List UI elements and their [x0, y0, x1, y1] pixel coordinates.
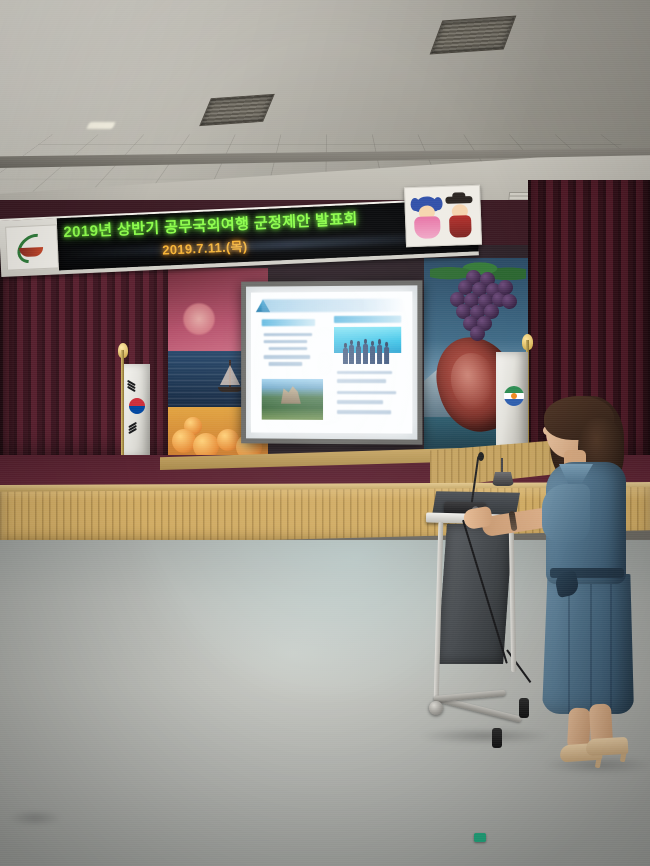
county-logo — [5, 224, 59, 270]
flag-cloth — [124, 364, 150, 456]
hanbok-boy-mascot — [445, 195, 474, 238]
logo-mark — [13, 234, 50, 262]
mascot-plate — [404, 185, 482, 248]
podium-lamp — [492, 472, 514, 486]
mural-grapes — [436, 270, 520, 336]
podium-leg — [509, 522, 517, 672]
presenter-shoe — [586, 737, 629, 756]
presenter-dress-skirt — [542, 574, 634, 714]
projection-screen — [241, 280, 422, 444]
gooseneck-microphone-head — [478, 452, 484, 461]
podium-lamp-stem — [501, 458, 503, 474]
county-emblem — [504, 386, 524, 406]
presentation-slide — [251, 292, 412, 434]
presentation-hall-photo: 2019년 상반기 공무국외여행 군정제안 발표회 2019.7.11.(목) — [0, 0, 650, 866]
presenter-sleeve — [542, 484, 590, 542]
mural-sun — [182, 302, 216, 336]
projection-screen-surface — [246, 285, 417, 439]
taeguk-symbol — [129, 398, 145, 414]
podium-foot — [492, 728, 502, 748]
podium-base-arm — [434, 690, 506, 702]
slide-section-header — [334, 316, 400, 323]
slide-photo-landscape — [262, 379, 323, 420]
hanbok-girl-mascot — [412, 196, 441, 239]
air-vent-grille — [430, 16, 517, 55]
podium-caster-wheel — [429, 701, 443, 715]
mural-sailboat — [216, 360, 244, 394]
slide-title-bar — [262, 299, 404, 312]
slide-section-header — [262, 319, 315, 326]
small-green-object — [474, 833, 486, 842]
slide-photo-group — [342, 341, 392, 364]
presenter — [524, 392, 650, 782]
ceiling-light — [86, 122, 115, 129]
